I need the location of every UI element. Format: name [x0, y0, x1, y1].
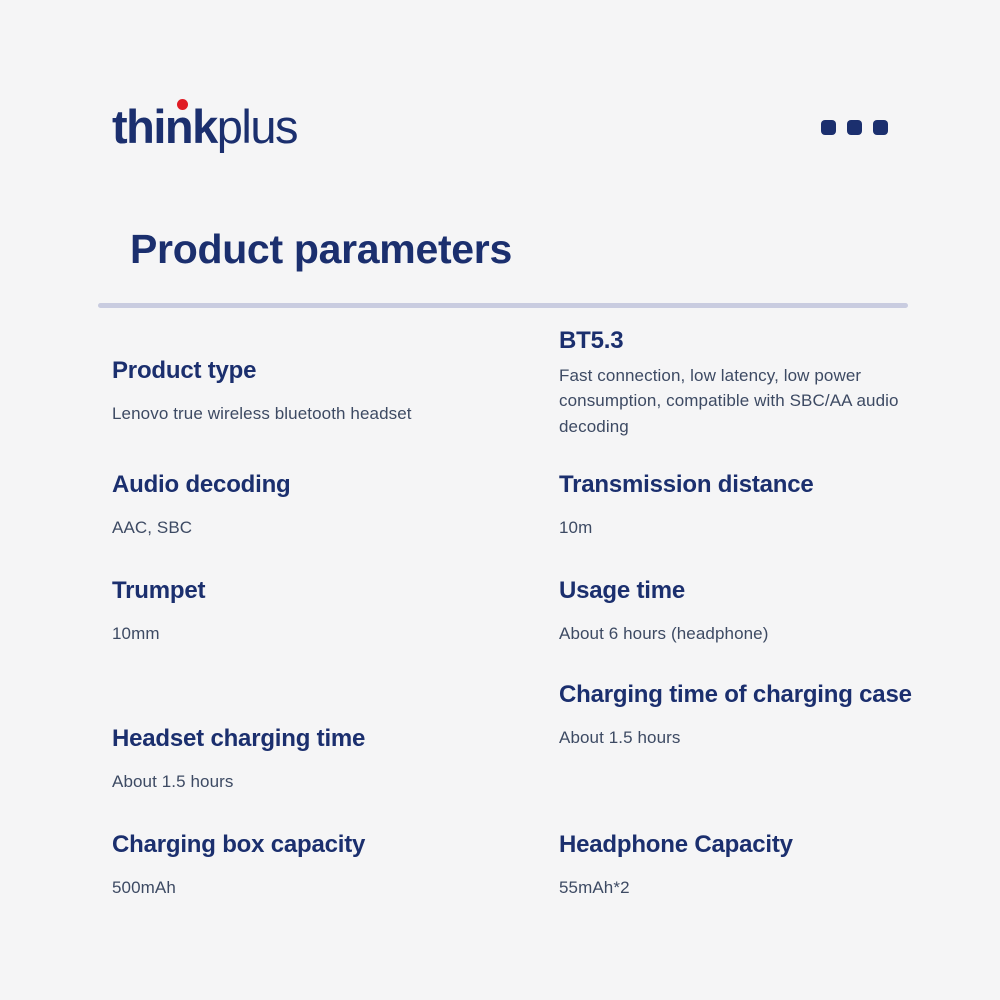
spec-value: About 6 hours (headphone) — [559, 621, 769, 647]
spec-item-bluetooth-version: BT5.3 Fast connection, low latency, low … — [559, 326, 954, 439]
spec-title: Product type — [112, 356, 412, 387]
spec-item-transmission-distance: Transmission distance 10m — [559, 470, 814, 540]
spec-value: AAC, SBC — [112, 515, 291, 541]
spec-value: Fast connection, low latency, low power … — [559, 363, 954, 440]
spec-item-product-type: Product type Lenovo true wireless blueto… — [112, 356, 412, 426]
spec-value: 500mAh — [112, 875, 365, 901]
more-options-dot-1 — [821, 120, 836, 135]
spec-title: Usage time — [559, 576, 769, 607]
section-divider — [98, 303, 908, 308]
spec-value: Lenovo true wireless bluetooth headset — [112, 401, 412, 427]
more-options-dot-3 — [873, 120, 888, 135]
spec-item-headset-charging-time: Headset charging time About 1.5 hours — [112, 724, 365, 794]
page-header: thinkplus — [112, 88, 888, 158]
spec-title: Charging time of charging case — [559, 680, 912, 711]
red-dot-icon — [177, 99, 188, 110]
spec-value: 55mAh*2 — [559, 875, 793, 901]
more-options-dot-2 — [847, 120, 862, 135]
spec-item-headphone-capacity: Headphone Capacity 55mAh*2 — [559, 830, 793, 900]
logo-text-plus: plus — [217, 100, 297, 153]
spec-value: About 1.5 hours — [559, 725, 912, 751]
spec-title: Headphone Capacity — [559, 830, 793, 861]
spec-title: BT5.3 — [559, 326, 954, 357]
spec-title: Transmission distance — [559, 470, 814, 501]
spec-item-trumpet: Trumpet 10mm — [112, 576, 205, 646]
spec-value: About 1.5 hours — [112, 769, 365, 795]
spec-value: 10mm — [112, 621, 205, 647]
spec-value: 10m — [559, 515, 814, 541]
spec-item-charging-box-capacity: Charging box capacity 500mAh — [112, 830, 365, 900]
spec-title: Audio decoding — [112, 470, 291, 501]
more-options-icon[interactable] — [821, 120, 888, 135]
logo-text-think: think — [112, 100, 217, 153]
thinkplus-logo: thinkplus — [112, 97, 297, 150]
spec-item-audio-decoding: Audio decoding AAC, SBC — [112, 470, 291, 540]
spec-title: Charging box capacity — [112, 830, 365, 861]
spec-title: Trumpet — [112, 576, 205, 607]
product-parameters-page: thinkplus Product parameters Product typ… — [0, 0, 1000, 1000]
page-title: Product parameters — [130, 226, 512, 273]
spec-title: Headset charging time — [112, 724, 365, 755]
spec-item-charging-case-time: Charging time of charging case About 1.5… — [559, 680, 912, 750]
spec-item-usage-time: Usage time About 6 hours (headphone) — [559, 576, 769, 646]
